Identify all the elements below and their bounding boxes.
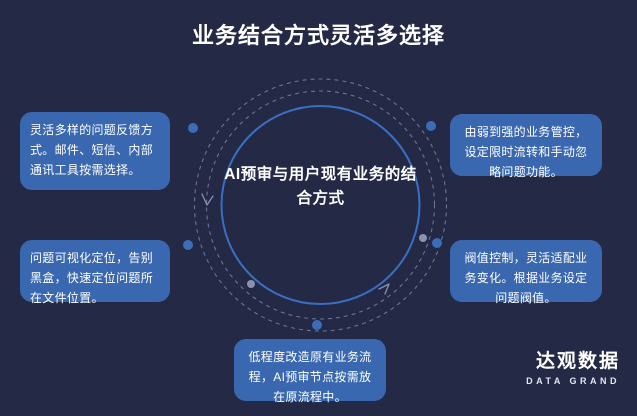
brand-logo-chinese: 达观数据 xyxy=(470,350,620,374)
callout-top-left: 灵活多样的问题反馈方式。邮件、短信、内部通讯工具按需选择。 xyxy=(20,112,170,190)
slide-canvas: 业务结合方式灵活多选择 AI预审与用户现有业务的结合方式 灵活多样的问题反馈方式… xyxy=(0,0,637,416)
accent-dot xyxy=(188,123,198,133)
accent-dot xyxy=(312,320,322,330)
arrow-head-right-icon xyxy=(379,284,389,294)
page-title: 业务结合方式灵活多选择 xyxy=(0,18,637,50)
ring-node-bottom-left xyxy=(247,280,255,288)
center-label: AI预审与用户现有业务的结合方式 xyxy=(218,163,423,211)
brand-logo: 达观数据 DATA GRAND xyxy=(470,350,620,388)
callout-bottom-center: 低程度改造原有业务流程，AI预审节点按需放在原流程中。 xyxy=(234,339,386,401)
accent-dot xyxy=(183,240,193,250)
callout-bottom-left: 问题可视化定位，告别黑盒，快速定位问题所在文件位置。 xyxy=(20,240,170,302)
callout-bottom-right: 阀值控制，灵活适配业务变化。根据业务设定问题阀值。 xyxy=(450,240,602,302)
accent-dot xyxy=(432,238,442,248)
brand-logo-english: DATA GRAND xyxy=(470,374,620,388)
callout-top-right: 由弱到强的业务管控，设定限时流转和手动忽略问题功能。 xyxy=(450,114,602,176)
arrow-head-left-icon xyxy=(202,194,213,205)
ring-node-right xyxy=(419,234,427,242)
accent-dot xyxy=(426,121,436,131)
